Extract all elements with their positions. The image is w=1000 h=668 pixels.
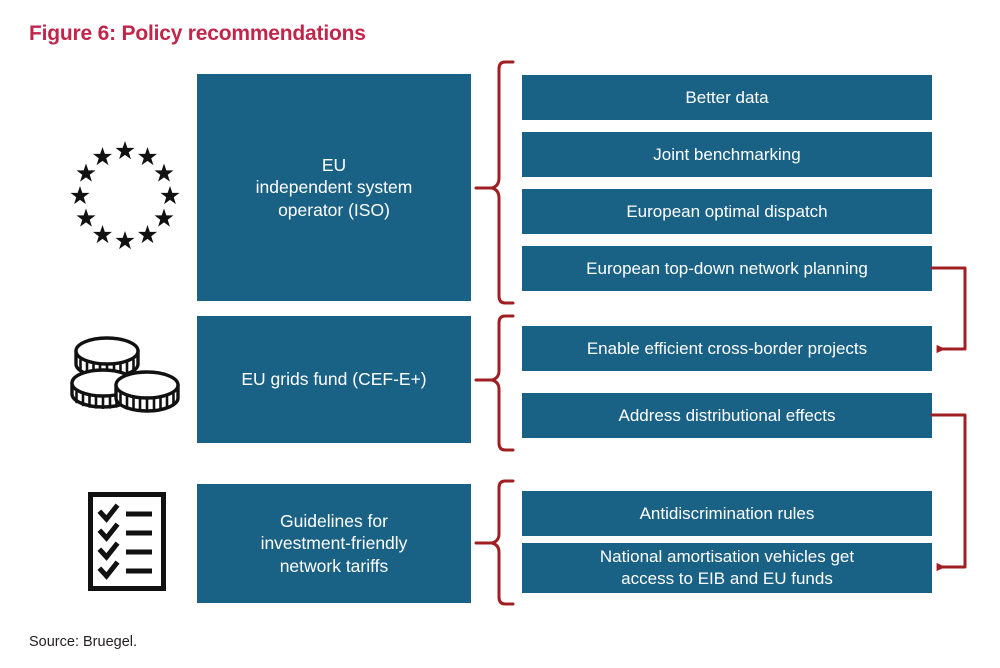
source-note: Source: Bruegel. — [29, 634, 137, 650]
recommendation-box-joint-benchmarking[interactable]: Joint benchmarking — [522, 132, 932, 177]
recommendation-box-antidiscrimination-rules[interactable]: Antidiscrimination rules — [522, 491, 932, 536]
eu-stars-icon — [62, 133, 188, 259]
recommendation-box-better-data[interactable]: Better data — [522, 75, 932, 120]
recommendation-box-cross-border-projects[interactable]: Enable efficient cross-border projects — [522, 326, 932, 371]
category-label: EU independent system operator (ISO) — [256, 154, 413, 221]
category-box-network-tariffs[interactable]: Guidelines for investment-friendly netwo… — [197, 484, 471, 603]
recommendation-label: Joint benchmarking — [653, 144, 800, 166]
brace-group-network-tariffs — [492, 481, 513, 604]
recommendation-box-national-amortisation-vehicles[interactable]: National amortisation vehicles get acces… — [522, 543, 932, 593]
brace-group-grids-fund — [492, 316, 513, 450]
figure-root: Figure 6: Policy recommendations — [0, 0, 1000, 668]
recommendation-box-distributional-effects[interactable]: Address distributional effects — [522, 393, 932, 438]
category-box-eu-grids-fund[interactable]: EU grids fund (CEF-E+) — [197, 316, 471, 443]
recommendation-label: Better data — [685, 87, 768, 109]
recommendation-label: Address distributional effects — [618, 405, 835, 427]
category-label: Guidelines for investment-friendly netwo… — [261, 510, 408, 577]
figure-title: Figure 6: Policy recommendations — [29, 22, 366, 46]
stacked-coins-icon — [64, 333, 186, 429]
recommendation-label: National amortisation vehicles get acces… — [600, 546, 854, 590]
recommendation-label: Enable efficient cross-border projects — [587, 338, 867, 360]
recommendation-label: European optimal dispatch — [626, 201, 827, 223]
checklist-icon — [88, 492, 166, 591]
brace-group-eu-iso — [492, 62, 513, 303]
recommendation-box-top-down-network-planning[interactable]: European top-down network planning — [522, 246, 932, 291]
recommendation-box-european-optimal-dispatch[interactable]: European optimal dispatch — [522, 189, 932, 234]
category-label: EU grids fund (CEF-E+) — [241, 368, 426, 390]
recommendation-label: European top-down network planning — [586, 258, 868, 280]
category-box-eu-iso[interactable]: EU independent system operator (ISO) — [197, 74, 471, 301]
arrow-distributional-to-amortisation — [932, 415, 965, 567]
arrow-planning-to-crossborder — [932, 268, 965, 349]
recommendation-label: Antidiscrimination rules — [640, 503, 815, 525]
